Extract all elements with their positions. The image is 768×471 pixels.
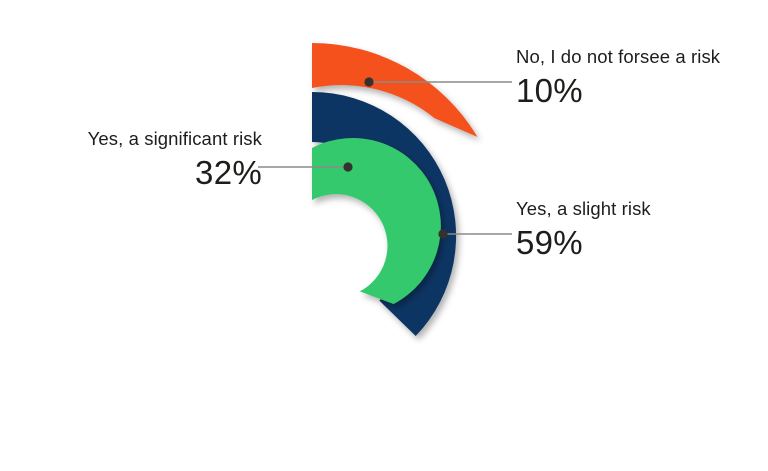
callout-value-label: 59% (516, 226, 651, 259)
callout-value-label: 10% (516, 74, 720, 107)
leader-dot-slight-risk (438, 229, 447, 238)
callout-no-risk: No, I do not forsee a risk 10% (516, 48, 720, 107)
callout-slight-risk: Yes, a slight risk 59% (516, 200, 651, 259)
callout-category-label: Yes, a slight risk (516, 200, 651, 219)
leader-dot-significant-risk (343, 162, 352, 171)
callout-category-label: Yes, a significant risk (84, 130, 262, 149)
callout-significant-risk: Yes, a significant risk 32% (84, 130, 262, 189)
leader-dot-no-risk (364, 77, 373, 86)
callout-category-label: No, I do not forsee a risk (516, 48, 720, 67)
chart-canvas: No, I do not forsee a risk 10% Yes, a si… (0, 0, 768, 471)
callout-value-label: 32% (84, 156, 262, 189)
